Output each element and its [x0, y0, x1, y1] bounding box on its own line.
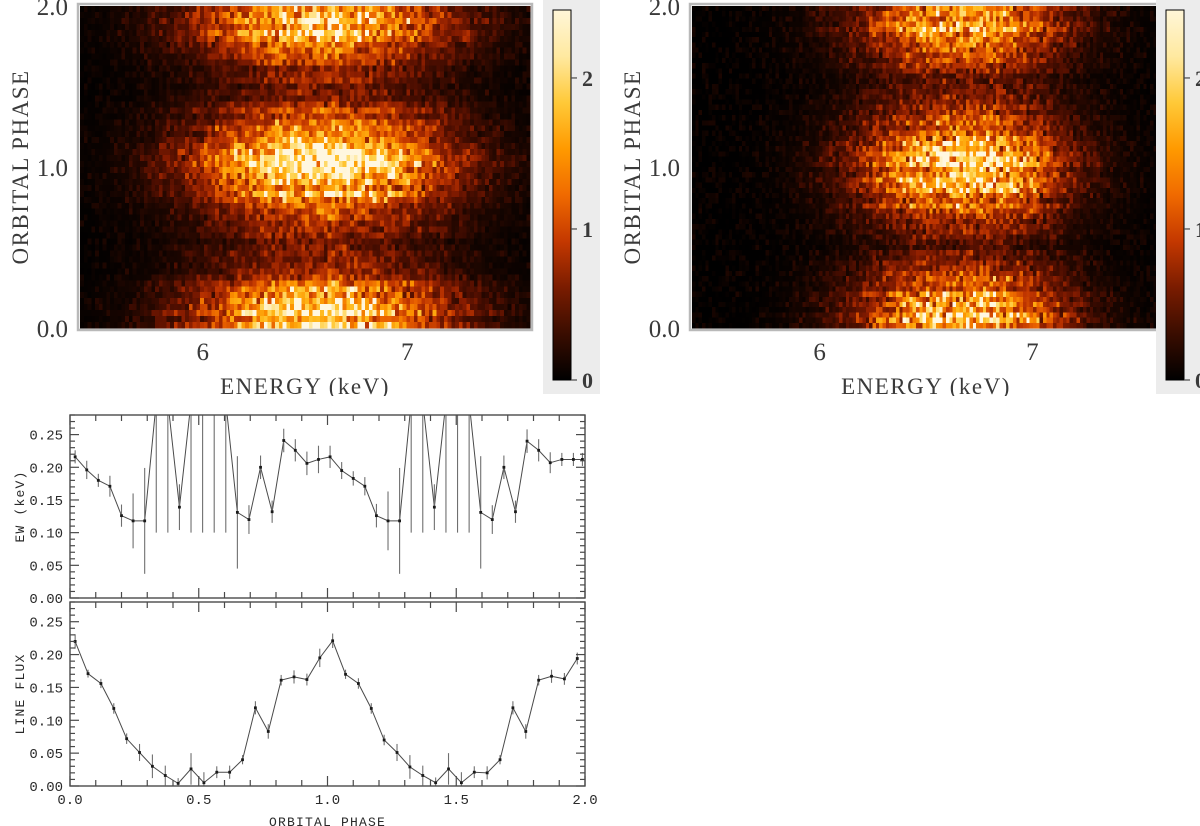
heatmap-ytick-label: 0.0 [649, 316, 680, 343]
data-point [100, 682, 103, 685]
data-point [537, 449, 540, 452]
heatmap-right-svg: 0.01.02.067ENERGY (keV)ORBITAL PHASE012 [600, 0, 1200, 396]
data-point [447, 768, 450, 771]
data-point [421, 401, 424, 404]
plot-background [70, 602, 585, 786]
y-tick-label: 0.15 [29, 494, 63, 510]
y-tick-label: 0.15 [29, 681, 63, 697]
data-point [87, 672, 90, 675]
data-point [151, 765, 154, 768]
heatmap-yaxis-title: ORBITAL PHASE [8, 69, 33, 264]
y-tick-label: 0.20 [29, 461, 63, 477]
data-point [491, 518, 494, 521]
data-point [166, 401, 169, 404]
heatmap-ytick-label: 2.0 [37, 0, 68, 21]
data-point [486, 771, 489, 774]
data-point [572, 458, 575, 461]
data-point [344, 673, 347, 676]
data-point [178, 506, 181, 509]
data-point [526, 440, 529, 443]
colorbar-tick-label: 0 [1195, 368, 1200, 393]
y-tick-label: 0.05 [29, 559, 63, 575]
data-point [370, 707, 373, 710]
y-tick-label: 0.05 [29, 747, 63, 763]
data-point [164, 774, 167, 777]
data-point [306, 462, 309, 465]
data-point [421, 774, 424, 777]
data-point [317, 458, 320, 461]
heatmap-xaxis-title: ENERGY (keV) [220, 374, 390, 396]
data-point [329, 455, 332, 458]
data-point [550, 675, 553, 678]
data-point [259, 466, 262, 469]
data-point [248, 518, 251, 521]
heatmap-xaxis-title: ENERGY (keV) [841, 374, 1011, 396]
heatmap-ytick-label: 1.0 [37, 155, 68, 182]
data-point [502, 466, 505, 469]
colorbar-tick-label: 2 [1195, 66, 1200, 91]
data-point [112, 707, 115, 710]
data-point [228, 771, 231, 774]
y-axis-title: EW (keV) [13, 470, 28, 542]
y-tick-label: 0.10 [29, 527, 63, 543]
data-point [280, 679, 283, 682]
data-point [201, 401, 204, 404]
data-point [460, 781, 463, 784]
data-point [125, 737, 128, 740]
data-point [331, 639, 334, 642]
data-point [254, 706, 257, 709]
data-point [398, 519, 401, 522]
heatmap-ytick-label: 2.0 [649, 0, 680, 21]
data-point [143, 519, 146, 522]
data-point [271, 510, 274, 513]
heatmap-panel-right: 0.01.02.067ENERGY (keV)ORBITAL PHASE012 [600, 0, 1200, 396]
colorbar-tick-label: 1 [1195, 217, 1200, 242]
lineflux-panel-right: 0.000.050.100.150.200.250.00.51.01.52.0O… [600, 600, 1200, 826]
lineflux-left-svg: 0.000.050.100.150.200.250.00.51.01.52.0O… [0, 600, 600, 826]
x-axis-title: ORBITAL PHASE [269, 815, 386, 826]
data-point [357, 682, 360, 685]
data-point [155, 401, 158, 404]
data-point [375, 514, 378, 517]
data-point [387, 519, 390, 522]
colorbar-gradient [553, 10, 571, 380]
colorbar-tick-label: 2 [582, 66, 593, 91]
x-tick-label: 1.0 [315, 793, 340, 809]
heatmap-ytick-label: 0.0 [37, 316, 68, 343]
data-point [456, 401, 459, 404]
lineflux-right-svg: 0.000.050.100.150.200.250.00.51.01.52.0O… [600, 600, 1200, 826]
y-tick-label: 0.25 [29, 429, 63, 445]
x-tick-label: 1.5 [444, 793, 469, 809]
colorbar-tick-label: 1 [582, 217, 593, 242]
data-point [434, 781, 437, 784]
data-point [410, 401, 413, 404]
heatmap-panel-left: 0.01.02.067ENERGY (keV)ORBITAL PHASE012 [0, 0, 600, 396]
data-point [524, 730, 527, 733]
data-point [433, 506, 436, 509]
ew-left-svg: 0.000.050.100.150.200.25EW (keV) [0, 398, 600, 608]
data-point [560, 458, 563, 461]
data-point [576, 657, 579, 660]
data-point [236, 511, 239, 514]
data-point [213, 401, 216, 404]
data-point [177, 782, 180, 785]
heatmap-xtick-label: 6 [196, 339, 209, 366]
data-point [473, 771, 476, 774]
data-point [190, 768, 193, 771]
data-point [514, 510, 517, 513]
data-point [85, 469, 88, 472]
heatmap-cells [692, 6, 1161, 329]
y-tick-label: 0.10 [29, 714, 63, 730]
x-tick-label: 0.5 [186, 793, 211, 809]
data-point [294, 449, 297, 452]
data-point [120, 514, 123, 517]
data-point [306, 678, 309, 681]
data-point [215, 771, 218, 774]
data-point [537, 679, 540, 682]
data-point [267, 730, 270, 733]
ew-panel-right: 0.000.050.100.150.200.25EW (keV) [600, 398, 1200, 608]
colorbar-tick-label: 0 [582, 368, 593, 393]
data-point [363, 485, 366, 488]
data-point [468, 401, 471, 404]
heatmap-xtick-label: 7 [1026, 339, 1039, 366]
heatmap-cells [80, 6, 531, 329]
data-point [224, 401, 227, 404]
data-point [74, 455, 77, 458]
plot-background [70, 415, 585, 598]
heatmap-xtick-label: 7 [401, 339, 414, 366]
data-point [352, 477, 355, 480]
data-point [203, 781, 206, 784]
data-point [318, 656, 321, 659]
y-tick-label: 0.20 [29, 649, 63, 665]
data-point [396, 751, 399, 754]
ew-right-svg: 0.000.050.100.150.200.25EW (keV) [600, 398, 1200, 608]
data-point [479, 511, 482, 514]
data-point [293, 676, 296, 679]
heatmap-xtick-label: 6 [813, 339, 826, 366]
y-tick-label: 0.25 [29, 616, 63, 632]
data-point [138, 751, 141, 754]
ew-panel-left: 0.000.050.100.150.200.25EW (keV) [0, 398, 600, 608]
heatmap-left-svg: 0.01.02.067ENERGY (keV)ORBITAL PHASE012 [0, 0, 600, 396]
data-point [190, 401, 193, 404]
data-point [282, 439, 285, 442]
data-point [563, 677, 566, 680]
data-point [499, 758, 502, 761]
heatmap-ytick-label: 1.0 [649, 155, 680, 182]
data-point [549, 461, 552, 464]
data-point [109, 485, 112, 488]
data-point [132, 519, 135, 522]
colorbar-gradient [1166, 10, 1184, 380]
data-point [97, 479, 100, 482]
data-point [409, 766, 412, 769]
x-tick-label: 0.0 [57, 793, 82, 809]
lineflux-panel-left: 0.000.050.100.150.200.250.00.51.01.52.0O… [0, 600, 600, 826]
data-point [383, 739, 386, 742]
data-point [241, 758, 244, 761]
heatmap-yaxis-title: ORBITAL PHASE [620, 69, 645, 264]
y-axis-title: LINE FLUX [13, 653, 28, 734]
x-tick-label: 2.0 [572, 793, 597, 809]
data-point [512, 706, 515, 709]
data-point [340, 469, 343, 472]
data-point [445, 401, 448, 404]
